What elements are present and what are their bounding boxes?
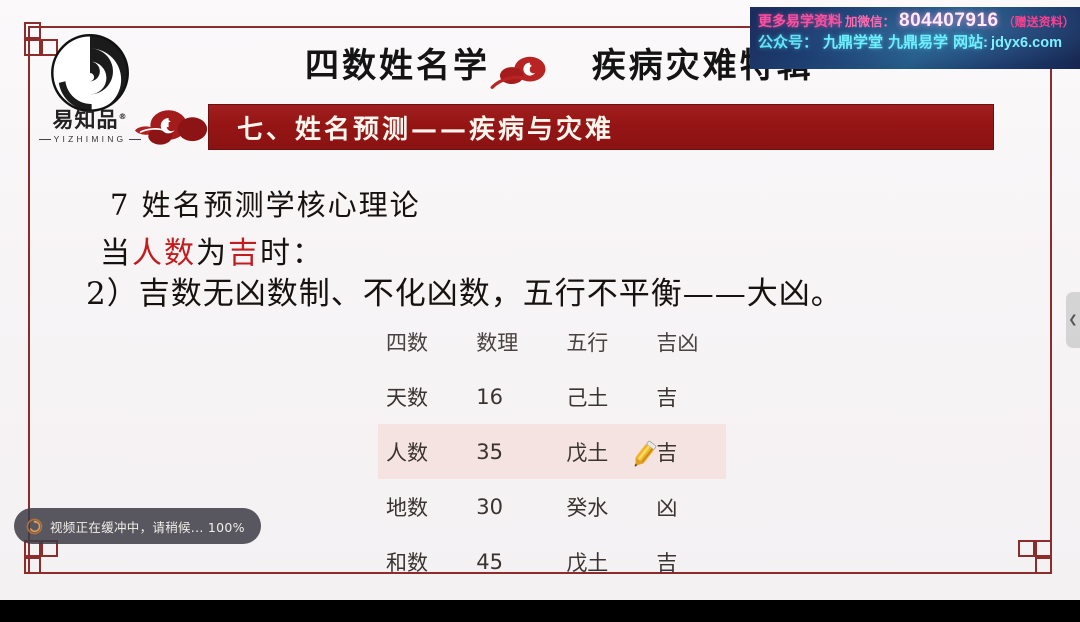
video-player-stage: 易知品® YIZHIMING 四数姓名学 疾病灾难特辑 七、姓名预 [0, 0, 1080, 622]
registered-mark: ® [119, 112, 128, 121]
corner-ornament-bottom-right [1008, 530, 1052, 574]
cell-fortune: 吉 [656, 369, 726, 424]
table-header-jixiong: 吉凶 [656, 314, 726, 369]
condition-suffix: 时： [260, 236, 324, 271]
table-row-highlighted: 人数 35 戊土 吉 [378, 424, 726, 479]
table-header-row: 四数 数理 五行 吉凶 [378, 314, 726, 369]
cell-name: 人数 [378, 424, 476, 479]
promo-wechat-number: 804407916 [899, 11, 999, 32]
condition-middle: 为 [196, 236, 228, 271]
section-banner-text: 七、姓名预测——疾病与灾难 [209, 109, 614, 146]
table-row: 天数 16 己土 吉 [378, 369, 726, 424]
buffering-toast: 视频正在缓冲中，请稍候... 100% [14, 508, 261, 544]
chevron-left-icon: ❮ [1068, 315, 1077, 326]
promo-wechat-label: 加微信： [845, 16, 895, 30]
cell-element: 己土 [566, 369, 656, 424]
body-line-rule: 2）吉数无凶数制、不化凶数，五行不平衡——大凶。 [86, 268, 843, 313]
promo-gift-label: （赠送资料） [1003, 16, 1075, 29]
cell-name: 地数 [378, 479, 476, 534]
body-line-heading: 7 姓名预测学核心理论 [110, 182, 421, 224]
promo-website-url: jdyx6.com [991, 36, 1062, 52]
promo-account-name: 九鼎学堂 [823, 35, 883, 52]
page-title-left: 四数姓名学 [305, 46, 490, 86]
table-header-shuli: 数理 [476, 314, 566, 369]
cell-name: 天数 [378, 369, 476, 424]
page-title: 四数姓名学 疾病灾难特辑 [305, 38, 814, 87]
promo-more-materials-label: 更多易学资料 [758, 14, 842, 29]
four-numbers-table: 四数 数理 五行 吉凶 天数 16 己土 吉 人数 35 戊土 吉 [378, 314, 726, 589]
cell-fortune: 吉 [656, 424, 726, 479]
buffering-message: 视频正在缓冲中，请稍候... 100% [50, 517, 245, 536]
table-row: 地数 30 癸水 凶 [378, 479, 726, 534]
cell-element: 戊土 [566, 424, 656, 479]
sidebar-collapse-tab[interactable]: ❮ [1066, 292, 1080, 348]
swirl-icon [49, 32, 131, 114]
cell-number: 45 [476, 534, 566, 589]
promo-brand-name: 九鼎易学 [888, 35, 948, 52]
promo-line-website: 公众号： 九鼎学堂 九鼎易学 网站: jdyx6.com [758, 35, 1080, 52]
condition-highlight-ji: 吉 [228, 236, 260, 271]
buffering-spinner-icon [26, 518, 43, 535]
condition-highlight-renshu: 人数 [132, 236, 196, 271]
auspicious-cloud-icon [128, 96, 212, 154]
cell-fortune: 凶 [656, 479, 726, 534]
table-header-sishu: 四数 [378, 314, 476, 369]
cell-number: 35 [476, 424, 566, 479]
cell-element: 戊土 [566, 534, 656, 589]
cell-fortune: 吉 [656, 534, 726, 589]
promo-line-wechat: 更多易学资料 加微信： 804407916 （赠送资料） [758, 11, 1080, 32]
promo-banner[interactable]: 更多易学资料 加微信： 804407916 （赠送资料） 公众号： 九鼎学堂 九… [750, 7, 1080, 69]
cell-element: 癸水 [566, 479, 656, 534]
table-row: 和数 45 戊土 吉 [378, 534, 726, 589]
promo-official-account-label: 公众号： [758, 35, 818, 52]
cell-number: 30 [476, 479, 566, 534]
frame-border-right [1050, 26, 1052, 574]
condition-prefix: 当 [100, 236, 132, 271]
cell-number: 16 [476, 369, 566, 424]
body-line-condition: 当人数为吉时： [100, 228, 324, 272]
letterbox-bottom [0, 600, 1080, 622]
promo-website-label: 网站: [953, 35, 988, 52]
table-header-wuxing: 五行 [566, 314, 656, 369]
cell-name: 和数 [378, 534, 476, 589]
section-banner: 七、姓名预测——疾病与灾难 [208, 104, 994, 150]
